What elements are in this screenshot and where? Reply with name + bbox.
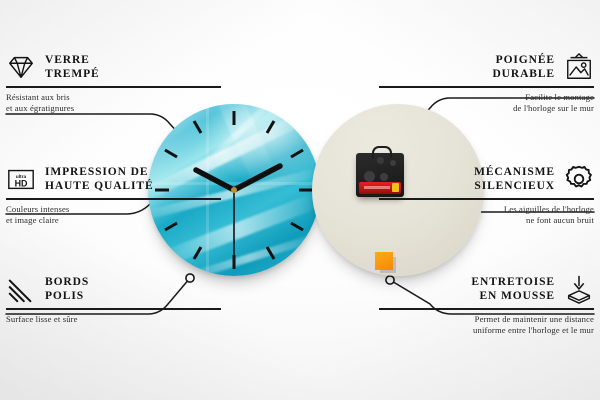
- svg-text:HD: HD: [15, 179, 28, 189]
- feature-subtitle: Couleurs intenses: [6, 204, 221, 215]
- diamond-icon: [6, 52, 36, 82]
- feature-mecanisme-silencieux: MÉCANISME SILENCIEUX Les aiguilles de l'…: [379, 164, 594, 226]
- feature-title: POIGNÉE DURABLE: [492, 53, 555, 81]
- diagonal-lines-icon: [6, 274, 36, 304]
- feature-subtitle: de l'horloge sur le mur: [379, 103, 594, 114]
- feature-title: BORDS POLIS: [45, 275, 89, 303]
- feature-subtitle: et image claire: [6, 215, 221, 226]
- feature-title: MÉCANISME SILENCIEUX: [474, 165, 555, 193]
- gear-icon: [564, 164, 594, 194]
- feature-heading: ENTRETOISE EN MOUSSE: [379, 274, 594, 304]
- minute-hand: [234, 166, 280, 190]
- mechanism-hanger-icon: [372, 146, 392, 158]
- ultra-hd-icon: ultra HD: [6, 164, 36, 194]
- mechanism-detail: [364, 171, 375, 182]
- feature-heading: VERRE TREMPÉ: [6, 52, 221, 82]
- feature-divider: [379, 86, 594, 88]
- feature-heading: POIGNÉE DURABLE: [379, 52, 594, 82]
- feature-subtitle: Surface lisse et sûre: [6, 314, 221, 325]
- feature-verre-trempe: VERRE TREMPÉ Résistant aux bris et aux é…: [6, 52, 221, 114]
- feature-bords-polis: BORDS POLIS Surface lisse et sûre: [6, 274, 221, 325]
- feature-impression: ultra HD IMPRESSION DE HAUTE QUALITÉ Cou…: [6, 164, 221, 226]
- foam-spacer: [375, 252, 393, 270]
- hands-pivot: [231, 187, 237, 193]
- feature-title: VERRE TREMPÉ: [45, 53, 100, 81]
- feature-subtitle: Résistant aux bris: [6, 92, 221, 103]
- feature-divider: [6, 198, 221, 200]
- feature-entretoise-mousse: ENTRETOISE EN MOUSSE Permet de maintenir…: [379, 274, 594, 336]
- press-down-icon: [564, 274, 594, 304]
- picture-hanger-icon: [564, 52, 594, 82]
- feature-heading: BORDS POLIS: [6, 274, 221, 304]
- feature-divider: [379, 198, 594, 200]
- mechanism-shaft: [377, 157, 384, 164]
- feature-title: ENTRETOISE EN MOUSSE: [471, 275, 555, 303]
- feature-divider: [6, 308, 221, 310]
- infographic-canvas: VERRE TREMPÉ Résistant aux bris et aux é…: [0, 0, 600, 400]
- feature-title: IMPRESSION DE HAUTE QUALITÉ: [45, 165, 154, 193]
- feature-subtitle: ne font aucun bruit: [379, 215, 594, 226]
- feature-divider: [6, 86, 221, 88]
- feature-poignee-durable: POIGNÉE DURABLE Facilite le montage de l…: [379, 52, 594, 114]
- feature-subtitle: et aux égratignures: [6, 103, 221, 114]
- feature-subtitle: uniforme entre l'horloge et le mur: [379, 325, 594, 336]
- feature-subtitle: Permet de maintenir une distance: [379, 314, 594, 325]
- feature-subtitle: Les aiguilles de l'horloge: [379, 204, 594, 215]
- feature-subtitle: Facilite le montage: [379, 92, 594, 103]
- feature-heading: MÉCANISME SILENCIEUX: [379, 164, 594, 194]
- feature-heading: ultra HD IMPRESSION DE HAUTE QUALITÉ: [6, 164, 221, 194]
- feature-divider: [379, 308, 594, 310]
